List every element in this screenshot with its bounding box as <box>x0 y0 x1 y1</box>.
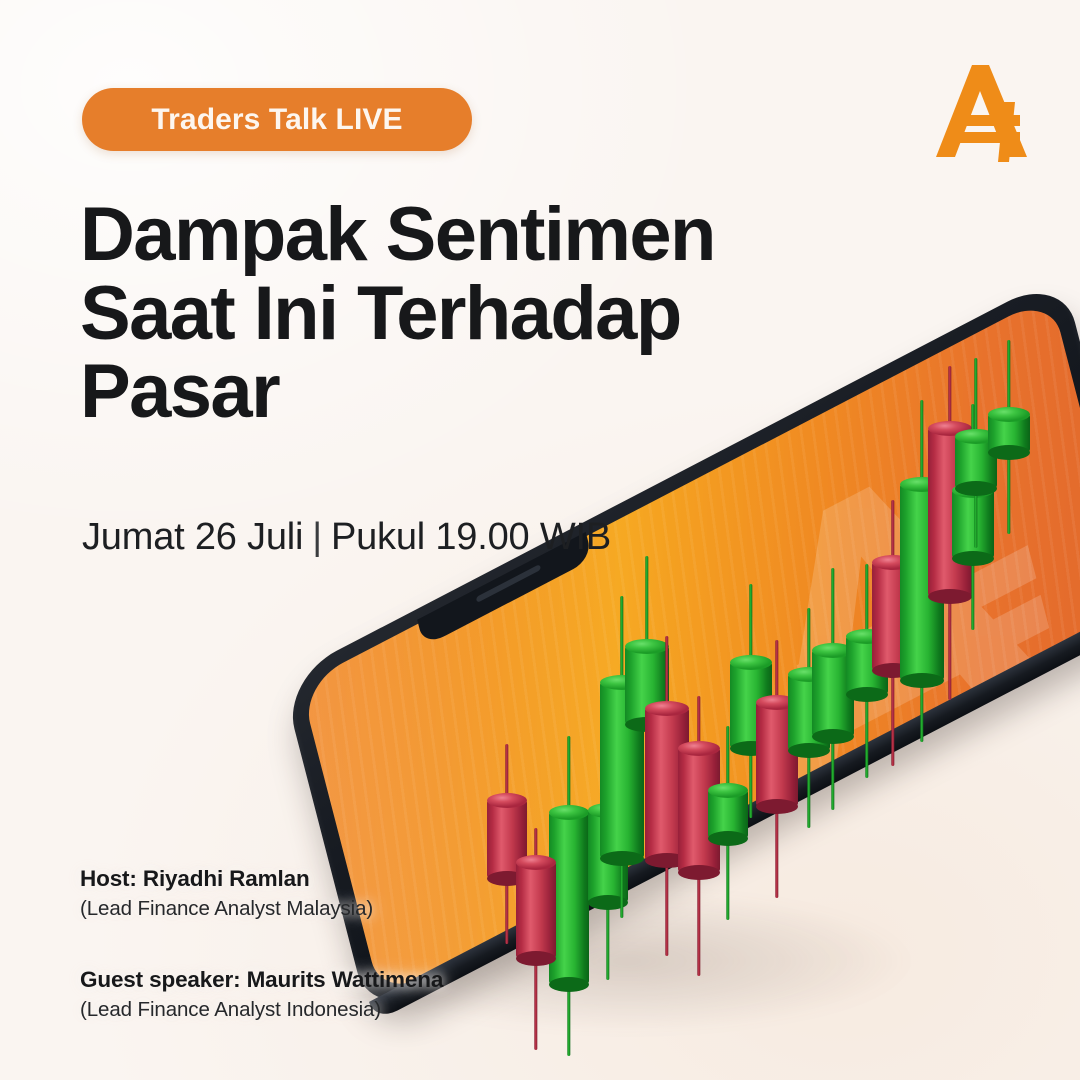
candle-14-up <box>846 636 888 694</box>
candle-13-lower-wick <box>831 736 834 810</box>
candle-8-upper-wick <box>697 696 700 748</box>
candle-18-body <box>952 490 994 558</box>
phone-bottom-edge <box>369 599 1080 1022</box>
candle-11-bottom-cap <box>756 799 798 814</box>
candle-7-lower-wick <box>665 860 668 956</box>
candle-16-bottom-cap <box>900 673 944 688</box>
candle-16-top-cap <box>900 477 944 492</box>
candle-1-top-cap <box>487 793 527 808</box>
candle-18-lower-wick <box>971 558 974 630</box>
candle-9-lower-wick <box>726 838 729 920</box>
candle-20-bottom-cap <box>988 445 1030 460</box>
candle-19-top-cap <box>955 429 997 444</box>
candle-14-body <box>846 636 888 694</box>
candle-17-down <box>928 428 972 596</box>
guest-role: (Lead Finance Analyst Indonesia) <box>80 998 443 1022</box>
candle-17-top-cap <box>928 421 972 436</box>
candle-15-lower-wick <box>891 670 894 766</box>
candle-20-upper-wick <box>1007 340 1010 414</box>
phone-earpiece <box>476 564 541 603</box>
candle-9-upper-wick <box>726 726 729 790</box>
candle-19-upper-wick <box>974 358 977 436</box>
candle-9-top-cap <box>708 783 748 798</box>
candle-12-top-cap <box>788 667 830 682</box>
candle-4-body <box>588 810 628 902</box>
candle-10-lower-wick <box>749 748 752 818</box>
guest-name: Guest speaker: Maurits Wattimena <box>80 967 443 993</box>
candle-20-top-cap <box>988 407 1030 422</box>
candle-7-upper-wick <box>665 636 668 708</box>
candle-11-lower-wick <box>775 806 778 898</box>
candle-15-body <box>872 562 914 670</box>
candle-13-bottom-cap <box>812 729 854 744</box>
candle-16-up <box>900 484 944 680</box>
schedule-line: Jumat 26 Juli|Pukul 19.00 WIB <box>82 516 611 559</box>
live-badge[interactable]: Traders Talk LIVE <box>82 88 472 151</box>
schedule-separator: | <box>312 516 322 559</box>
candle-18-top-cap <box>952 483 994 498</box>
candle-4-lower-wick <box>606 902 609 980</box>
candle-19-body <box>955 436 997 488</box>
candle-15-down <box>872 562 914 670</box>
candle-20-lower-wick <box>1007 452 1010 534</box>
candle-10-bottom-cap <box>730 741 772 756</box>
candle-17-lower-wick <box>948 596 951 700</box>
candle-1-down <box>487 800 527 878</box>
candle-11-upper-wick <box>775 640 778 702</box>
candle-18-up <box>952 490 994 558</box>
candle-6-body <box>625 646 669 724</box>
candle-19-lower-wick <box>974 488 977 548</box>
candle-2-bottom-cap <box>549 977 589 992</box>
candle-4-up <box>588 810 628 902</box>
candle-12-lower-wick <box>807 750 810 828</box>
candle-6-top-cap <box>625 639 669 654</box>
candle-20-body <box>988 414 1030 452</box>
candle-9-bottom-cap <box>708 831 748 846</box>
candle-1-bottom-cap <box>487 871 527 886</box>
candle-10-up <box>730 662 772 748</box>
host-role: (Lead Finance Analyst Malaysia) <box>80 897 443 921</box>
candle-19-bottom-cap <box>955 481 997 496</box>
candle-10-upper-wick <box>749 584 752 662</box>
candle-13-body <box>812 650 854 736</box>
candle-8-bottom-cap <box>678 865 720 880</box>
candle-18-upper-wick <box>971 404 974 490</box>
candle-18-bottom-cap <box>952 551 994 566</box>
candle-17-upper-wick <box>948 366 951 428</box>
candle-1-lower-wick <box>505 878 508 944</box>
candle-2-lower-wick <box>567 984 570 1056</box>
credits-block: Host: Riyadhi Ramlan (Lead Finance Analy… <box>80 866 443 1022</box>
candle-10-body <box>730 662 772 748</box>
host-name: Host: Riyadhi Ramlan <box>80 866 443 892</box>
candle-5-body <box>600 682 644 858</box>
candle-3-lower-wick <box>534 958 537 1050</box>
candle-3-top-cap <box>516 855 556 870</box>
candle-7-down <box>645 708 689 860</box>
candle-5-up <box>600 682 644 858</box>
candle-16-upper-wick <box>920 400 923 484</box>
candle-16-lower-wick <box>920 680 923 742</box>
candle-12-body <box>788 674 830 750</box>
candle-16-body <box>900 484 944 680</box>
candle-9-body <box>708 790 748 838</box>
candle-8-lower-wick <box>697 872 700 976</box>
candle-17-body <box>928 428 972 596</box>
candle-4-top-cap <box>588 803 628 818</box>
candle-6-bottom-cap <box>625 717 669 732</box>
candle-4-bottom-cap <box>588 895 628 910</box>
candle-6-upper-wick <box>645 556 648 646</box>
candle-12-upper-wick <box>807 608 810 674</box>
candle-3-upper-wick <box>534 828 537 862</box>
schedule-time: Pukul 19.00 WIB <box>331 516 611 558</box>
candle-2-top-cap <box>549 805 589 820</box>
candle-14-bottom-cap <box>846 687 888 702</box>
candle-3-body <box>516 862 556 958</box>
candle-8-top-cap <box>678 741 720 756</box>
screen-watermark-logo <box>672 386 1080 842</box>
candle-12-up <box>788 674 830 750</box>
candle-13-upper-wick <box>831 568 834 650</box>
candle-20-up <box>988 414 1030 452</box>
candle-15-top-cap <box>872 555 914 570</box>
candle-1-body <box>487 800 527 878</box>
candle-8-body <box>678 748 720 872</box>
candle-5-top-cap <box>600 675 644 690</box>
candle-13-top-cap <box>812 643 854 658</box>
candle-15-bottom-cap <box>872 663 914 678</box>
candle-2-body <box>549 812 589 984</box>
candle-10-top-cap <box>730 655 772 670</box>
candle-3-down <box>516 862 556 958</box>
candle-9-up <box>708 790 748 838</box>
candle-6-up <box>625 646 669 724</box>
candle-14-top-cap <box>846 629 888 644</box>
candle-7-top-cap <box>645 701 689 716</box>
candle-17-bottom-cap <box>928 589 972 604</box>
candle-2-up <box>549 812 589 984</box>
candle-14-lower-wick <box>865 694 868 778</box>
candle-8-down <box>678 748 720 872</box>
candle-11-top-cap <box>756 695 798 710</box>
poster-canvas: Traders Talk LIVE Dampak Sentimen Saat I… <box>0 0 1080 1080</box>
candle-5-lower-wick <box>620 858 623 918</box>
candle-5-bottom-cap <box>600 851 644 866</box>
candle-5-upper-wick <box>620 596 623 682</box>
candle-3-bottom-cap <box>516 951 556 966</box>
candle-2-upper-wick <box>567 736 570 812</box>
candle-7-bottom-cap <box>645 853 689 868</box>
candle-19-up <box>955 436 997 488</box>
brand-a-logo <box>934 62 1032 162</box>
candle-14-upper-wick <box>865 564 868 636</box>
candle-13-up <box>812 650 854 736</box>
schedule-date: Jumat 26 Juli <box>82 516 303 558</box>
candle-15-upper-wick <box>891 500 894 562</box>
candle-12-bottom-cap <box>788 743 830 758</box>
candle-4-upper-wick <box>606 730 609 810</box>
credits-spacer <box>80 921 443 967</box>
page-title: Dampak Sentimen Saat Ini Terhadap Pasar <box>80 196 800 432</box>
candle-11-down <box>756 702 798 806</box>
candle-1-upper-wick <box>505 744 508 800</box>
candle-11-body <box>756 702 798 806</box>
candle-7-body <box>645 708 689 860</box>
candle-6-lower-wick <box>645 724 648 780</box>
